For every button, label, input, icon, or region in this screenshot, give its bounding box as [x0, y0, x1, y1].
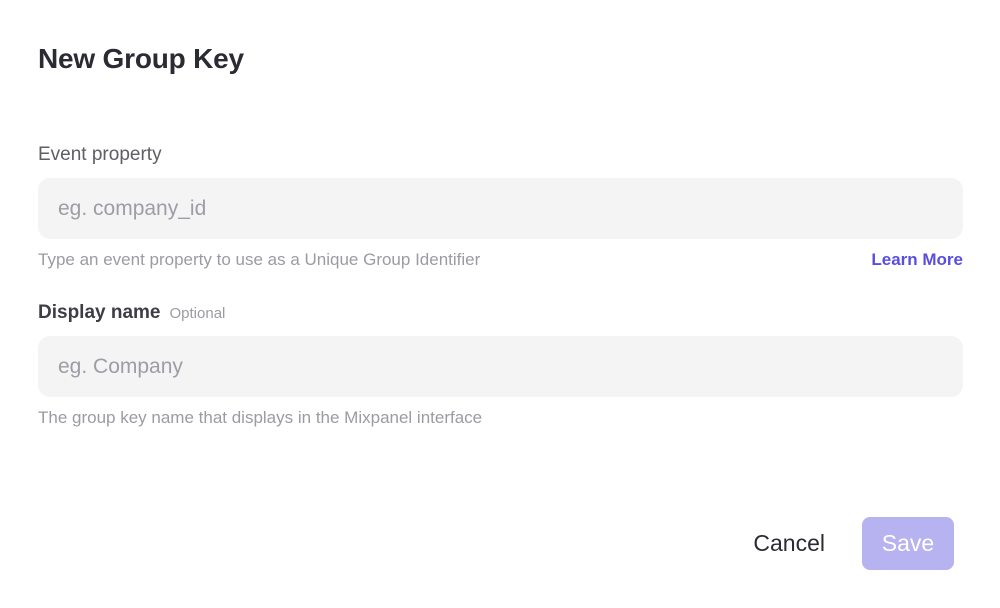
event-property-label: Event property	[38, 143, 162, 167]
save-button[interactable]: Save	[862, 517, 954, 570]
cancel-button[interactable]: Cancel	[753, 517, 825, 570]
display-name-optional-tag: Optional	[170, 304, 226, 324]
field-group-event-property: Event property Type an event property to…	[38, 143, 963, 271]
display-name-label-row: Display name Optional	[38, 301, 963, 325]
form-body: Event property Type an event property to…	[38, 143, 963, 459]
display-name-input[interactable]	[38, 336, 963, 397]
display-name-label: Display name	[38, 301, 161, 325]
event-property-input[interactable]	[38, 178, 963, 239]
new-group-key-dialog: New Group Key Event property Type an eve…	[0, 0, 1000, 608]
display-name-helper-row: The group key name that displays in the …	[38, 407, 963, 429]
display-name-helper-text: The group key name that displays in the …	[38, 407, 482, 429]
event-property-label-row: Event property	[38, 143, 963, 167]
field-group-display-name: Display name Optional The group key name…	[38, 301, 963, 429]
page-title: New Group Key	[38, 41, 244, 77]
learn-more-link[interactable]: Learn More	[871, 249, 963, 271]
event-property-helper-text: Type an event property to use as a Uniqu…	[38, 249, 480, 271]
event-property-helper-row: Type an event property to use as a Uniqu…	[38, 249, 963, 271]
dialog-actions: Cancel Save	[753, 517, 954, 570]
